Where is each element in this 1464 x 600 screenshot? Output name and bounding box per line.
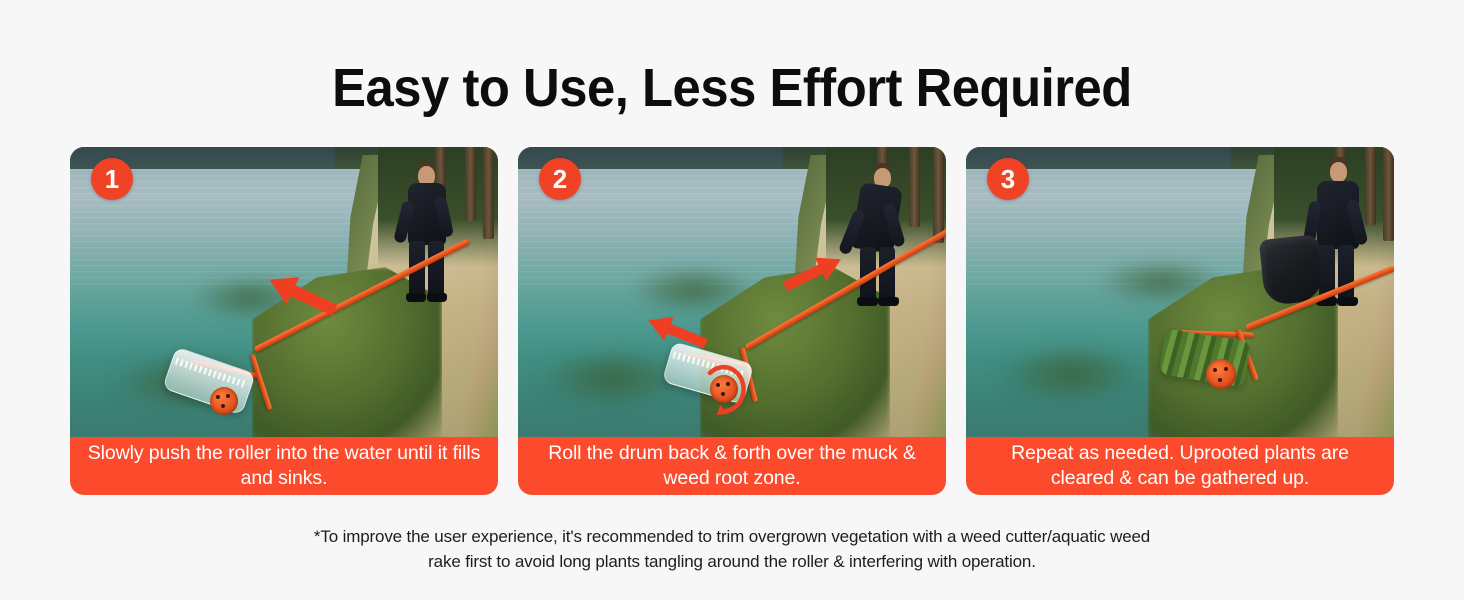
tree-trunk	[1383, 147, 1394, 241]
drum-cap-hole	[1218, 378, 1222, 382]
person-figure	[388, 161, 458, 311]
tree-trunk	[465, 147, 476, 221]
weed-patch	[996, 343, 1146, 405]
step-photo-3: 3	[966, 147, 1394, 437]
steps-row: 1 Slowly push the roller into the water …	[70, 147, 1394, 495]
step-caption-3: Repeat as needed. Uprooted plants are cl…	[966, 437, 1394, 495]
step-caption-1: Slowly push the roller into the water un…	[70, 437, 498, 495]
drum-cap-hole	[1224, 367, 1228, 371]
person-leg	[879, 247, 895, 301]
tree-trunk	[933, 147, 944, 243]
step-photo-1: 1	[70, 147, 498, 437]
step-photo-2: 2	[518, 147, 946, 437]
promo-banner: Easy to Use, Less Effort Required	[0, 0, 1464, 600]
drum-end-cap	[1206, 359, 1236, 389]
person-leg	[428, 241, 444, 297]
step-badge-1: 1	[91, 158, 133, 200]
footnote-line-1: *To improve the user experience, it's re…	[0, 524, 1464, 549]
step-badge-2: 2	[539, 158, 581, 200]
drum-cap-hole	[1213, 368, 1217, 372]
step-caption-2: Roll the drum back & forth over the muck…	[518, 437, 946, 495]
page-title: Easy to Use, Less Effort Required	[44, 57, 1420, 119]
step-card-2: 2 Roll the drum back & forth over the mu…	[518, 147, 946, 495]
rotation-arrow-icon	[704, 365, 746, 422]
person-figure	[838, 163, 912, 315]
footnote-line-2: rake first to avoid long plants tangling…	[0, 549, 1464, 574]
person-boot	[427, 293, 447, 302]
person-boot	[857, 297, 878, 306]
drum-cap-hole	[221, 404, 225, 408]
person-boot	[1337, 297, 1358, 306]
step-badge-3: 3	[987, 158, 1029, 200]
drum-cap-hole	[216, 395, 220, 399]
drum-cap-hole	[226, 394, 230, 398]
drum-end-cap	[210, 387, 238, 415]
person-boot	[406, 293, 426, 302]
person-head	[1330, 162, 1347, 182]
step-card-1: 1 Slowly push the roller into the water …	[70, 147, 498, 495]
step-card-3: 3 Repeat as needed. Uprooted plants are …	[966, 147, 1394, 495]
person-boot	[878, 297, 899, 306]
footnote: *To improve the user experience, it's re…	[0, 524, 1464, 574]
tree-trunk	[483, 147, 494, 239]
